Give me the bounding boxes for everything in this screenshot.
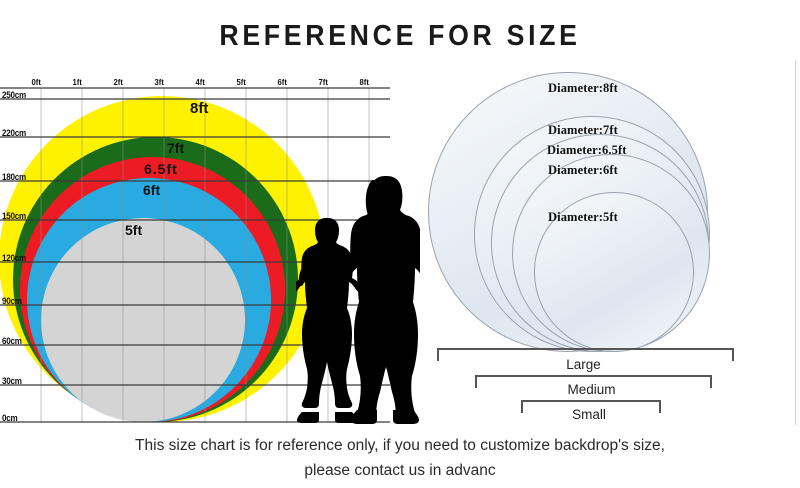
- y-tick-250cm: 250cm: [2, 90, 26, 100]
- bracket-label-medium: Medium: [475, 382, 708, 397]
- x-tick-0ft: 0ft: [32, 77, 41, 87]
- x-tick-2ft: 2ft: [114, 77, 123, 87]
- arc-label-6_5ft: 6.5ft: [144, 161, 178, 177]
- y-tick-150cm: 150cm: [2, 211, 26, 221]
- y-tick-30cm: 30cm: [2, 376, 22, 386]
- diameter-discs-panel: Diameter:8ft Diameter:7ft Diameter:6.5ft…: [424, 58, 754, 368]
- y-tick-60cm: 60cm: [2, 336, 22, 346]
- arc-label-7ft: 7ft: [167, 140, 184, 156]
- size-reference-chart: REFERENCE FOR SIZE: [0, 0, 800, 488]
- y-tick-0cm: 0cm: [2, 413, 17, 423]
- x-tick-1ft: 1ft: [73, 77, 82, 87]
- disc-label-7ft: Diameter:7ft: [548, 123, 618, 138]
- y-tick-120cm: 120cm: [2, 253, 26, 263]
- y-tick-90cm: 90cm: [2, 296, 22, 306]
- silhouette-adult: [350, 174, 420, 424]
- right-frame-line: [795, 60, 796, 425]
- height-scale-chart: 250cm 220cm 180cm 150cm 120cm 90cm 60cm …: [0, 78, 412, 426]
- page-title: REFERENCE FOR SIZE: [32, 20, 768, 53]
- bracket-label-large: Large: [437, 357, 730, 372]
- y-tick-220cm: 220cm: [2, 128, 26, 138]
- disc-label-5ft: Diameter:5ft: [548, 210, 618, 225]
- silhouette-child: [296, 216, 358, 424]
- x-tick-8ft: 8ft: [360, 77, 369, 87]
- caption-line-2: please contact us in advanc: [0, 462, 800, 480]
- x-tick-4ft: 4ft: [196, 77, 205, 87]
- disc-label-6ft: Diameter:6ft: [548, 163, 618, 178]
- x-tick-3ft: 3ft: [155, 77, 164, 87]
- arc-label-8ft: 8ft: [190, 100, 208, 117]
- y-tick-180cm: 180cm: [2, 172, 26, 182]
- disc-label-8ft: Diameter:8ft: [548, 81, 618, 96]
- caption-line-1: This size chart is for reference only, i…: [0, 437, 800, 455]
- arc-label-6ft: 6ft: [143, 182, 160, 198]
- x-tick-7ft: 7ft: [319, 77, 328, 87]
- arc-label-5ft: 5ft: [125, 222, 142, 238]
- disc-label-6_5ft: Diameter:6.5ft: [547, 143, 626, 158]
- x-tick-5ft: 5ft: [237, 77, 246, 87]
- x-tick-6ft: 6ft: [278, 77, 287, 87]
- bracket-label-small: Small: [521, 407, 657, 422]
